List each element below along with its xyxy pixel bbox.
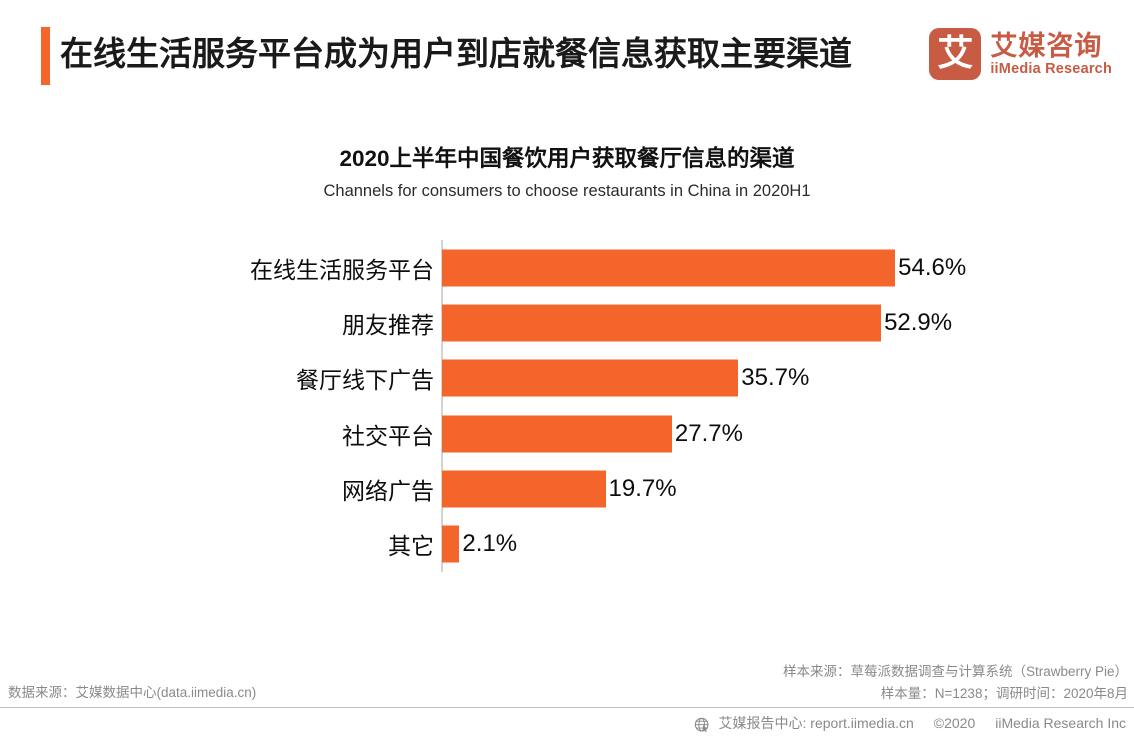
page-header: 在线生活服务平台成为用户到店就餐信息获取主要渠道 艾 艾媒咨询 iiMedia … <box>0 0 1134 110</box>
bar <box>442 360 738 397</box>
chart-subtitle: Channels for consumers to choose restaur… <box>0 182 1134 201</box>
bar <box>442 249 895 286</box>
globe-icon <box>694 717 711 734</box>
logo-mark-icon: 艾 <box>929 28 981 80</box>
logo-english-name: iiMedia Research <box>990 61 1112 78</box>
bar-chart-row: 餐厅线下广告35.7% <box>0 351 1134 406</box>
sample-source-line: 样本来源：草莓派数据调查与计算系统（Strawberry Pie） <box>783 661 1128 683</box>
bar <box>442 526 459 563</box>
bar-value-label: 27.7% <box>675 420 743 448</box>
category-label: 在线生活服务平台 <box>250 251 434 285</box>
copyright-text: ©2020 <box>934 715 975 731</box>
category-label: 其它 <box>388 527 434 561</box>
page-title: 在线生活服务平台成为用户到店就餐信息获取主要渠道 <box>60 28 852 80</box>
bar <box>442 415 672 452</box>
bar-chart-row: 朋友推荐52.9% <box>0 295 1134 350</box>
category-label: 餐厅线下广告 <box>296 361 434 395</box>
footer-bar: 艾媒报告中心: report.iimedia.cn ©2020 iiMedia … <box>0 708 1134 737</box>
chart-title: 2020上半年中国餐饮用户获取餐厅信息的渠道 <box>0 141 1134 173</box>
company-text: iiMedia Research Inc <box>995 715 1126 731</box>
bar-value-label: 54.6% <box>898 254 966 282</box>
sample-size-line: 样本量：N=1238；调研时间：2020年8月 <box>783 683 1128 705</box>
bar-value-label: 19.7% <box>609 475 677 503</box>
bar <box>442 470 606 507</box>
category-label: 社交平台 <box>342 417 434 451</box>
sample-source-note: 样本来源：草莓派数据调查与计算系统（Strawberry Pie） 样本量：N=… <box>783 661 1128 705</box>
data-source-note: 数据来源：艾媒数据中心(data.iimedia.cn) <box>8 681 256 701</box>
bar-value-label: 2.1% <box>462 530 517 558</box>
category-label: 网络广告 <box>342 472 434 506</box>
report-center-text: 艾媒报告中心: report.iimedia.cn <box>719 713 914 733</box>
header-accent-bar <box>41 27 50 85</box>
bar-chart-plot-area: 在线生活服务平台54.6%朋友推荐52.9%餐厅线下广告35.7%社交平台27.… <box>0 240 1134 572</box>
bar-chart-row: 其它2.1% <box>0 517 1134 572</box>
bar-value-label: 52.9% <box>884 309 952 337</box>
logo-text: 艾媒咨询 iiMedia Research <box>990 31 1112 78</box>
category-label: 朋友推荐 <box>342 306 434 340</box>
bar-chart-row: 网络广告19.7% <box>0 461 1134 516</box>
iimedia-logo: 艾 艾媒咨询 iiMedia Research <box>929 28 1112 80</box>
bar <box>442 304 881 341</box>
bar-value-label: 35.7% <box>741 364 809 392</box>
bar-chart-row: 在线生活服务平台54.6% <box>0 240 1134 295</box>
bar-chart-row: 社交平台27.7% <box>0 406 1134 461</box>
logo-chinese-name: 艾媒咨询 <box>990 31 1112 61</box>
